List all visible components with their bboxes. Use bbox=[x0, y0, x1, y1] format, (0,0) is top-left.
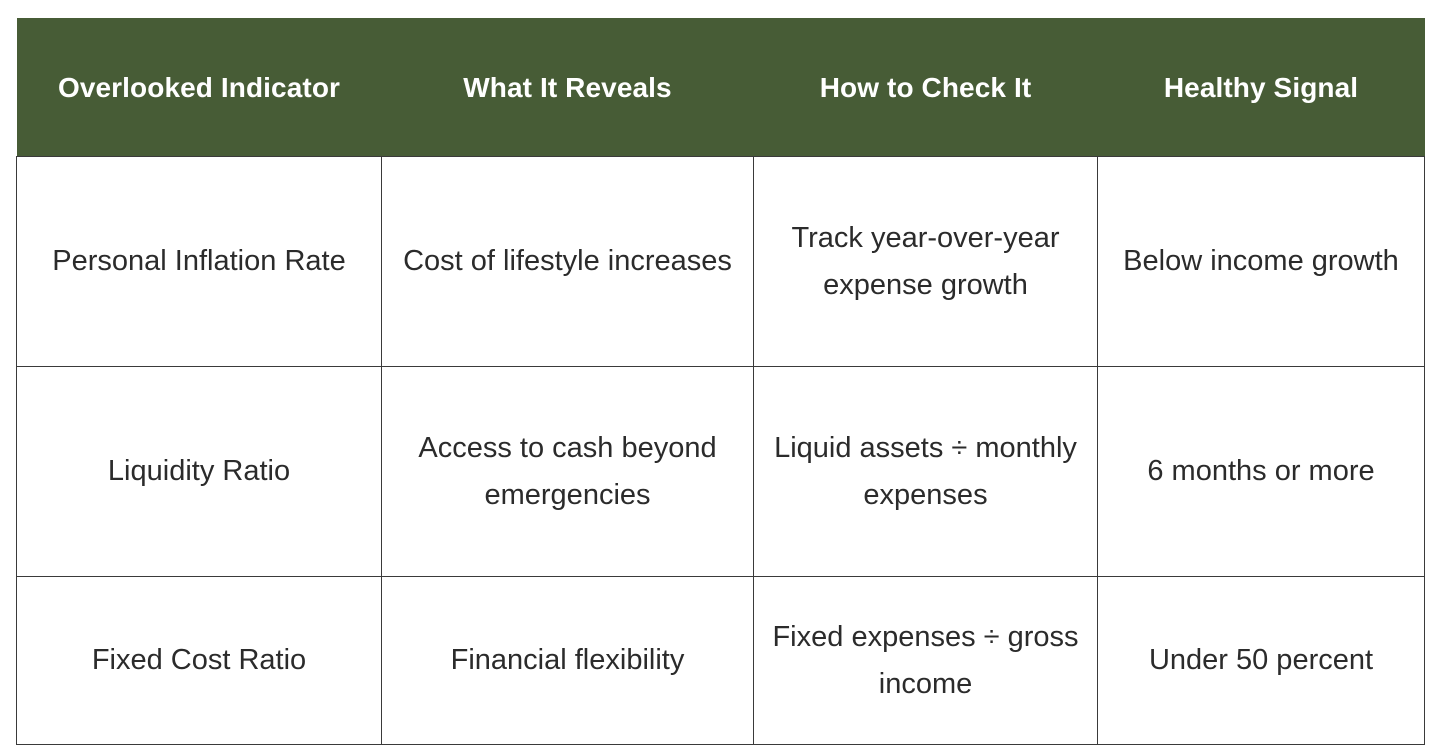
table-row: Liquidity Ratio Access to cash beyond em… bbox=[17, 367, 1425, 577]
cell-indicator: Liquidity Ratio bbox=[17, 367, 382, 577]
cell-indicator: Personal Inflation Rate bbox=[17, 157, 382, 367]
cell-healthy: Below income growth bbox=[1098, 157, 1425, 367]
column-header-how-to-check-it: How to Check It bbox=[754, 18, 1098, 157]
cell-healthy: 6 months or more bbox=[1098, 367, 1425, 577]
cell-check: Liquid assets ÷ monthly expenses bbox=[754, 367, 1098, 577]
cell-indicator: Fixed Cost Ratio bbox=[17, 577, 382, 745]
table-body: Personal Inflation Rate Cost of lifestyl… bbox=[17, 157, 1425, 745]
page-root: Overlooked Indicator What It Reveals How… bbox=[0, 0, 1440, 680]
cell-reveals: Financial flexibility bbox=[382, 577, 754, 745]
table-container: Overlooked Indicator What It Reveals How… bbox=[16, 18, 1424, 745]
cell-reveals: Cost of lifestyle increases bbox=[382, 157, 754, 367]
table-row: Personal Inflation Rate Cost of lifestyl… bbox=[17, 157, 1425, 367]
cell-check: Fixed expenses ÷ gross income bbox=[754, 577, 1098, 745]
column-header-healthy-signal: Healthy Signal bbox=[1098, 18, 1425, 157]
table-header: Overlooked Indicator What It Reveals How… bbox=[17, 18, 1425, 157]
cell-reveals: Access to cash beyond emergencies bbox=[382, 367, 754, 577]
cell-check: Track year-over-year expense growth bbox=[754, 157, 1098, 367]
column-header-what-it-reveals: What It Reveals bbox=[382, 18, 754, 157]
cell-healthy: Under 50 percent bbox=[1098, 577, 1425, 745]
column-header-overlooked-indicator: Overlooked Indicator bbox=[17, 18, 382, 157]
overlooked-indicators-table: Overlooked Indicator What It Reveals How… bbox=[16, 18, 1425, 745]
table-row: Fixed Cost Ratio Financial flexibility F… bbox=[17, 577, 1425, 745]
header-row: Overlooked Indicator What It Reveals How… bbox=[17, 18, 1425, 157]
